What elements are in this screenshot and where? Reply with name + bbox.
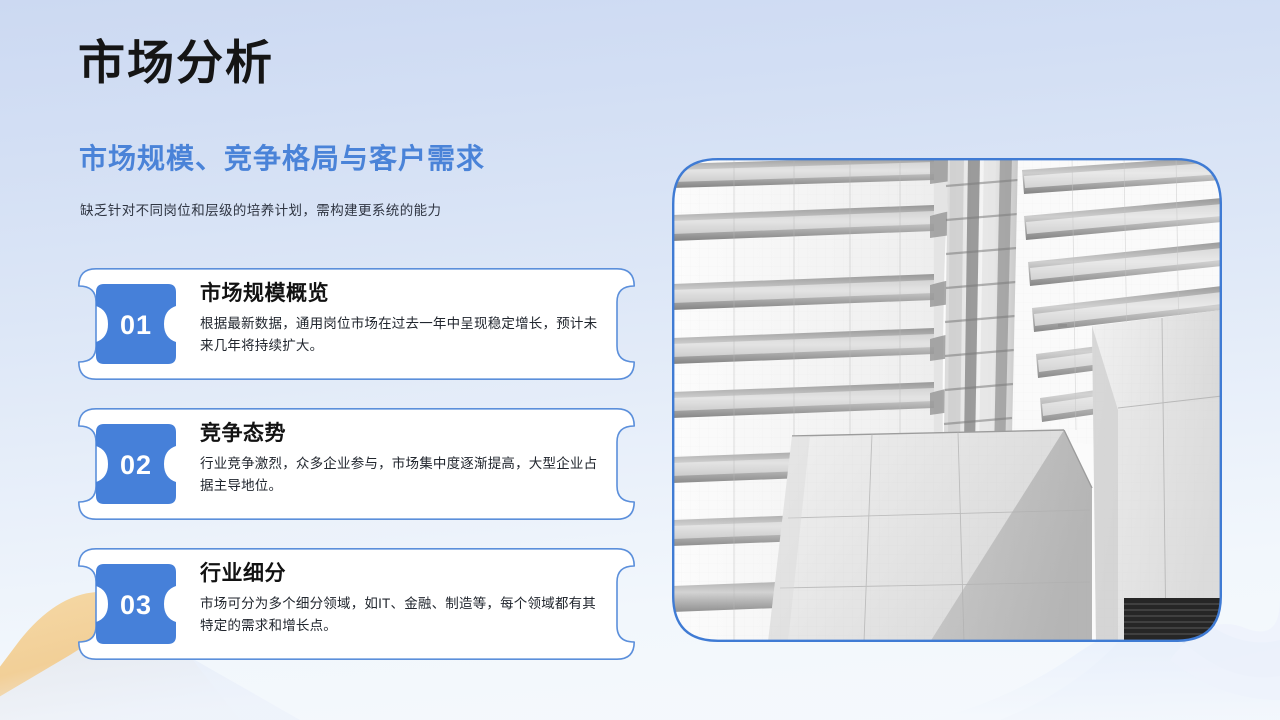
page-title: 市场分析 — [78, 36, 274, 90]
list-item[interactable]: 02 竞争态势 行业竞争激烈，众多企业参与，市场集中度逐渐提高，大型企业占据主导… — [78, 408, 635, 520]
card-heading: 行业细分 — [200, 561, 609, 587]
foreground-block-right — [1092, 310, 1222, 642]
architecture-photo-image — [672, 158, 1222, 642]
card-text: 根据最新数据，通用岗位市场在过去一年中呈现稳定增长，预计未来几年将持续扩大。 — [200, 313, 609, 357]
card-number: 02 — [94, 422, 178, 506]
list-item[interactable]: 01 市场规模概览 根据最新数据，通用岗位市场在过去一年中呈现稳定增长，预计未来… — [78, 268, 635, 380]
vent-louvre — [1124, 598, 1220, 642]
card-number-badge: 03 — [94, 562, 178, 646]
card-heading: 竞争态势 — [200, 421, 609, 447]
card-number-badge: 02 — [94, 422, 178, 506]
card-body: 市场规模概览 根据最新数据，通用岗位市场在过去一年中呈现稳定增长，预计未来几年将… — [200, 281, 609, 357]
mountain-right-wave-icon — [930, 630, 1280, 720]
card-body: 行业细分 市场可分为多个细分领域，如IT、金融、制造等，每个领域都有其特定的需求… — [200, 561, 609, 637]
foreground-block-center — [768, 430, 1092, 642]
slide-root: 市场分析 市场规模、竞争格局与客户需求 缺乏针对不同岗位和层级的培养计划，需构建… — [0, 0, 1280, 720]
card-body: 竞争态势 行业竞争激烈，众多企业参与，市场集中度逐渐提高，大型企业占据主导地位。 — [200, 421, 609, 497]
card-text: 行业竞争激烈，众多企业参与，市场集中度逐渐提高，大型企业占据主导地位。 — [200, 453, 609, 497]
card-number: 01 — [94, 282, 178, 366]
architecture-photo — [672, 158, 1222, 642]
list-item[interactable]: 03 行业细分 市场可分为多个细分领域，如IT、金融、制造等，每个领域都有其特定… — [78, 548, 635, 660]
section-subtitle: 市场规模、竞争格局与客户需求 — [79, 142, 485, 176]
card-text: 市场可分为多个细分领域，如IT、金融、制造等，每个领域都有其特定的需求和增长点。 — [200, 593, 609, 637]
section-description: 缺乏针对不同岗位和层级的培养计划，需构建更系统的能力 — [80, 199, 441, 219]
center-tower — [944, 158, 1020, 458]
card-heading: 市场规模概览 — [200, 281, 609, 307]
card-number: 03 — [94, 562, 178, 646]
card-number-badge: 01 — [94, 282, 178, 366]
